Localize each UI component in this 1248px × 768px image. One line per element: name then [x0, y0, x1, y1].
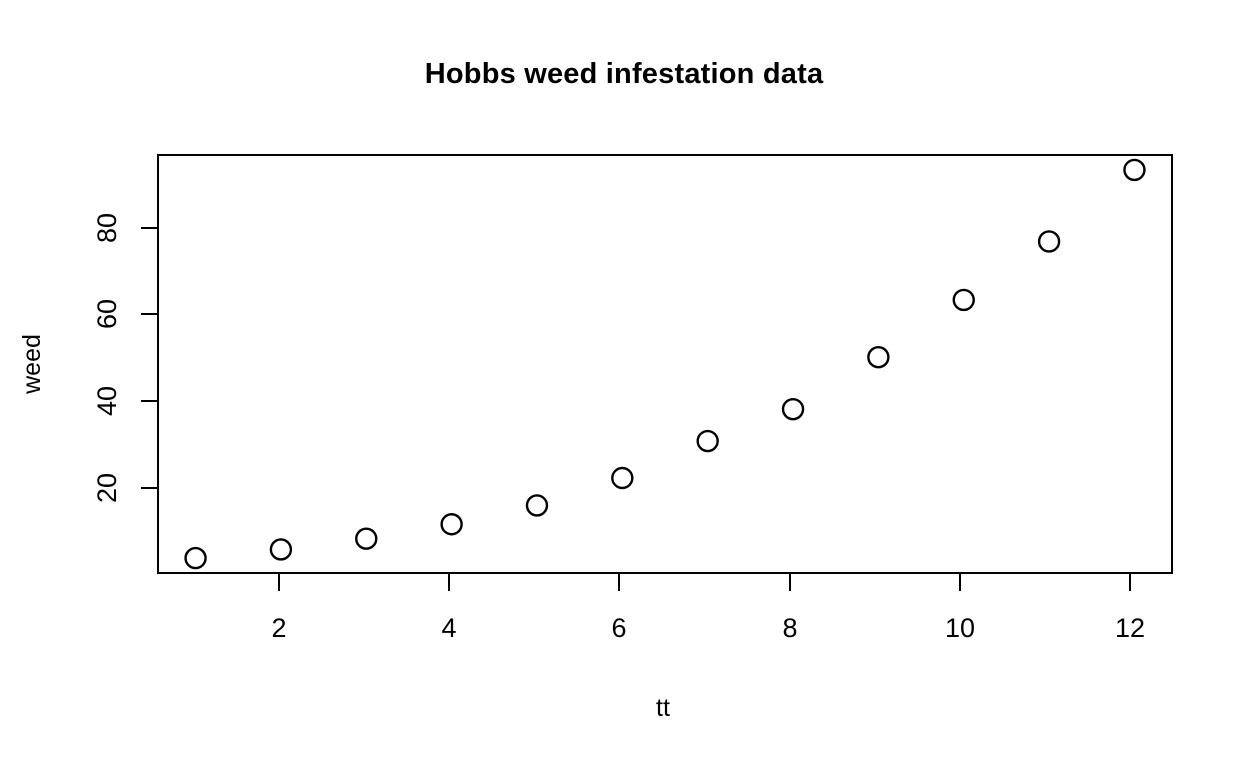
x-axis-tick-label-12: 12	[1115, 613, 1145, 643]
data-point	[1039, 231, 1059, 251]
data-point	[783, 399, 803, 419]
x-axis: 2 4 6 8 10 12 tt	[271, 573, 1145, 722]
data-point	[868, 347, 888, 367]
y-axis-tick-label-20: 20	[92, 473, 122, 503]
data-point	[954, 290, 974, 310]
x-axis-tick-label-6: 6	[611, 613, 626, 643]
x-axis-tick-label-10: 10	[945, 613, 975, 643]
data-point	[356, 529, 376, 549]
data-point	[186, 548, 206, 568]
data-point	[442, 514, 462, 534]
data-point	[1124, 160, 1144, 180]
y-axis-tick-label-40: 40	[92, 386, 122, 416]
y-axis-tick-label-80: 80	[92, 213, 122, 243]
x-axis-title: tt	[656, 694, 670, 722]
y-axis-title: weed	[18, 334, 46, 395]
y-axis-tick-label-60: 60	[92, 299, 122, 329]
plot-canvas: Hobbs weed infestation data 80 60 40 20 …	[0, 0, 1248, 768]
data-point	[698, 431, 718, 451]
x-axis-tick-label-8: 8	[782, 613, 797, 643]
plot-area-border	[158, 155, 1172, 573]
x-axis-tick-label-4: 4	[441, 613, 456, 643]
data-point	[271, 539, 291, 559]
y-axis: 80 60 40 20 weed	[18, 213, 158, 503]
data-points-layer	[186, 160, 1145, 568]
data-point	[527, 495, 547, 515]
data-point	[612, 468, 632, 488]
scatter-plot: 80 60 40 20 weed 2 4 6 8 10 12 tt	[0, 0, 1248, 768]
x-axis-tick-label-2: 2	[271, 613, 286, 643]
